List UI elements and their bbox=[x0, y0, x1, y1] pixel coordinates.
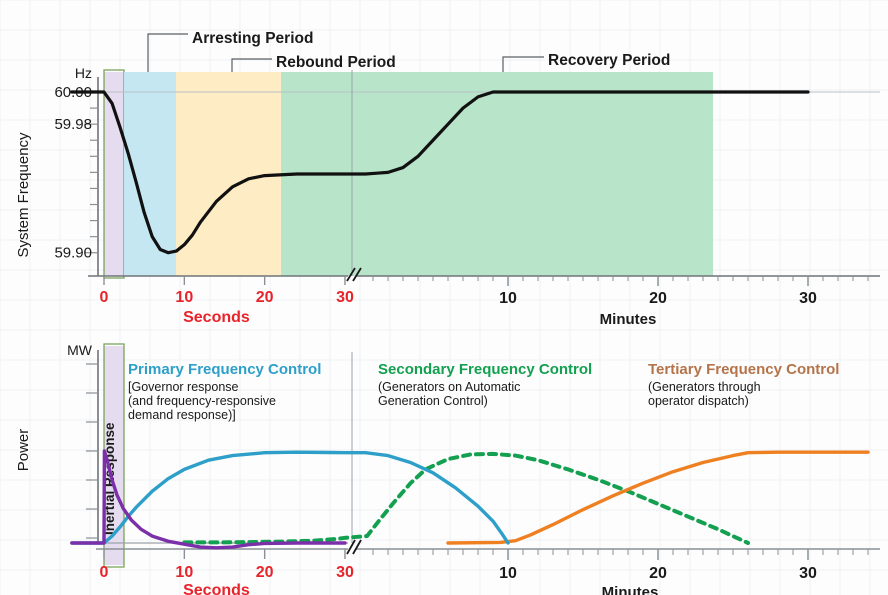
x-tick-label-seconds-0: 0 bbox=[100, 564, 109, 581]
figure-root: 60.0059.9859.90HzSystem Frequency0102030… bbox=[0, 0, 888, 595]
series-curve-tertiary-frequency-control bbox=[448, 452, 868, 543]
period-bands bbox=[104, 70, 713, 278]
callout-label-recovery-period: Recovery Period bbox=[548, 52, 670, 69]
callout-label-rebound-period: Rebound Period bbox=[276, 54, 396, 71]
x-axis-title-minutes: Minutes bbox=[600, 311, 657, 328]
frequency-response-figure: 60.0059.9859.90HzSystem Frequency0102030… bbox=[0, 0, 888, 595]
legend-subline-secondary-1: Generation Control) bbox=[378, 394, 488, 408]
period-callouts: Arresting PeriodRebound PeriodRecovery P… bbox=[148, 30, 670, 72]
legend-title-tertiary: Tertiary Frequency Control bbox=[648, 361, 839, 378]
legend-subline-tertiary-0: (Generators through bbox=[648, 380, 761, 394]
x-tick-label-seconds-10: 10 bbox=[175, 564, 193, 581]
y-axis-unit-mw: MW bbox=[67, 342, 93, 358]
y-axis-title-power: Power bbox=[15, 429, 32, 472]
x-tick-label-seconds-30: 30 bbox=[336, 289, 354, 306]
legend-subline-primary-2: demand response)] bbox=[128, 408, 236, 422]
y-tick-label-59-98: 59.98 bbox=[54, 116, 92, 133]
legend-subline-primary-0: [Governor response bbox=[128, 380, 239, 394]
x-tick-label-seconds-10: 10 bbox=[175, 289, 193, 306]
x-tick-label-minutes-10: 10 bbox=[499, 290, 517, 307]
x-tick-label-seconds-20: 20 bbox=[256, 564, 274, 581]
y-axis-unit-hz: Hz bbox=[75, 65, 92, 81]
x-tick-label-minutes-20: 20 bbox=[649, 290, 667, 307]
x-tick-label-minutes-30: 30 bbox=[799, 290, 817, 307]
callout-leader-0 bbox=[148, 34, 188, 72]
bottom-y-axis bbox=[86, 350, 98, 543]
legend-subline-secondary-0: (Generators on Automatic bbox=[378, 380, 520, 394]
x-tick-label-minutes-10: 10 bbox=[499, 565, 517, 582]
legend-subline-primary-1: (and frequency-responsive bbox=[128, 394, 276, 408]
x-axis-title-seconds: Seconds bbox=[183, 309, 250, 326]
control-legends: Primary Frequency Control[Governor respo… bbox=[128, 361, 839, 422]
callout-leader-2 bbox=[503, 57, 544, 72]
y-tick-label-59-90: 59.90 bbox=[54, 245, 92, 262]
x-axis-title-minutes: Minutes bbox=[602, 584, 659, 595]
x-tick-label-minutes-30: 30 bbox=[799, 565, 817, 582]
band-inertial-response-band bbox=[104, 72, 124, 276]
legend-title-secondary: Secondary Frequency Control bbox=[378, 361, 592, 378]
y-axis-title-system-frequency: System Frequency bbox=[15, 132, 32, 258]
series-curve-primary-frequency-control bbox=[72, 452, 508, 543]
callout-label-arresting-period: Arresting Period bbox=[192, 30, 313, 47]
callout-leader-1 bbox=[232, 59, 272, 72]
x-tick-label-seconds-0: 0 bbox=[100, 289, 109, 306]
x-tick-label-seconds-20: 20 bbox=[256, 289, 274, 306]
x-tick-label-minutes-20: 20 bbox=[649, 565, 667, 582]
x-axis-title-seconds: Seconds bbox=[183, 582, 250, 595]
legend-subline-tertiary-1: operator dispatch) bbox=[648, 394, 749, 408]
band-arresting-period-band bbox=[124, 72, 176, 276]
x-tick-label-seconds-30: 30 bbox=[336, 564, 354, 581]
legend-title-primary: Primary Frequency Control bbox=[128, 361, 321, 378]
